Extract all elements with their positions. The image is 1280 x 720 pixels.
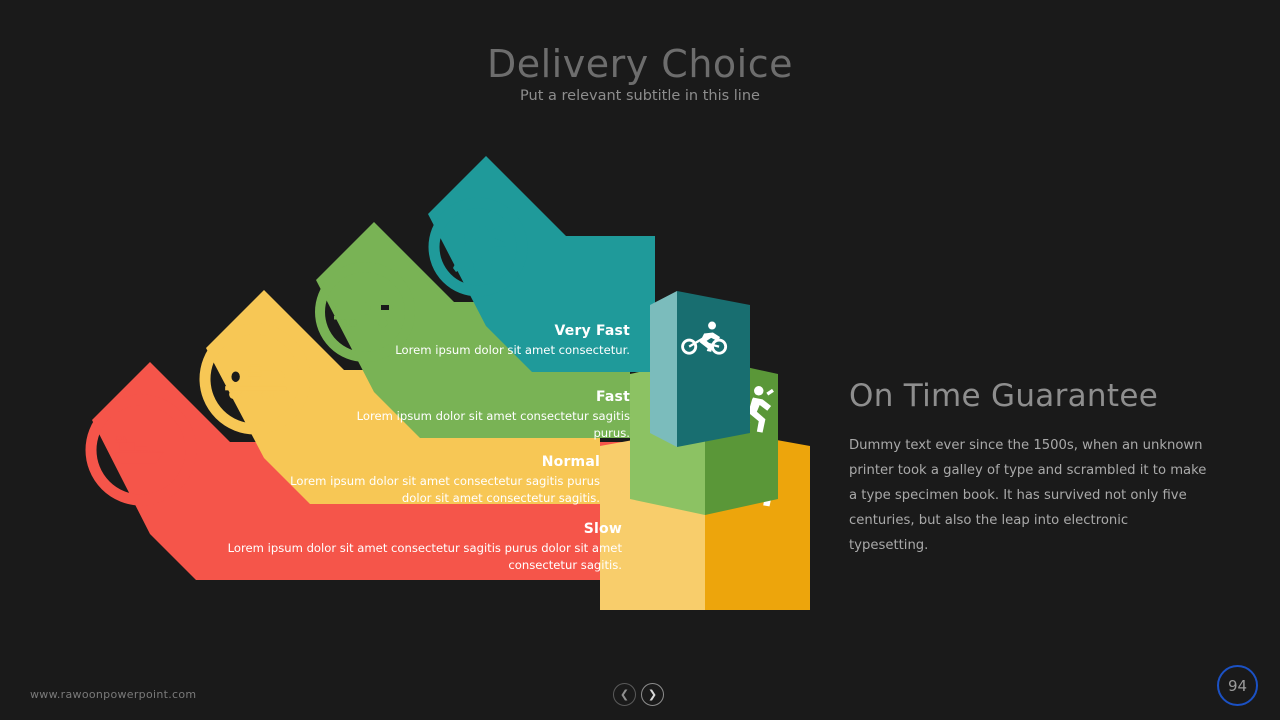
- level-description: Lorem ipsum dolor sit amet consectetur s…: [330, 408, 630, 442]
- level-label-slow: Slow Lorem ipsum dolor sit amet consecte…: [190, 520, 622, 574]
- side-panel-heading: On Time Guarantee: [849, 378, 1249, 414]
- prev-slide-button[interactable]: ❮: [613, 683, 636, 706]
- delivery-choice-infographic: Very Fast Lorem ipsum dolor sit amet con…: [0, 150, 830, 610]
- very-fast-block-left: [650, 291, 677, 447]
- page-subtitle: Put a relevant subtitle in this line: [0, 88, 1280, 104]
- side-panel-body: Dummy text ever since the 1500s, when an…: [849, 433, 1211, 558]
- level-description: Lorem ipsum dolor sit amet consectetur s…: [190, 540, 622, 574]
- level-description: Lorem ipsum dolor sit amet consectetur s…: [270, 473, 600, 507]
- level-title: Fast: [330, 388, 630, 406]
- website-link[interactable]: www.rawoonpowerpoint.com: [30, 688, 196, 701]
- slide-canvas: Delivery Choice Put a relevant subtitle …: [0, 0, 1280, 720]
- page-title: Delivery Choice: [0, 42, 1280, 86]
- level-title: Very Fast: [395, 322, 630, 340]
- page-number-badge: 94: [1217, 665, 1258, 706]
- level-description: Lorem ipsum dolor sit amet consectetur.: [395, 342, 630, 359]
- level-title: Slow: [190, 520, 622, 538]
- very-fast-block-mid: [677, 291, 750, 447]
- level-label-fast: Fast Lorem ipsum dolor sit amet consecte…: [330, 388, 630, 442]
- next-slide-button[interactable]: ❯: [641, 683, 664, 706]
- level-title: Normal: [270, 453, 600, 471]
- chevron-right-icon: ❯: [648, 689, 657, 700]
- level-label-normal: Normal Lorem ipsum dolor sit amet consec…: [270, 453, 600, 507]
- chevron-left-icon: ❮: [620, 689, 629, 700]
- slide-navigation: ❮ ❯: [613, 683, 669, 707]
- level-label-very-fast: Very Fast Lorem ipsum dolor sit amet con…: [395, 322, 630, 359]
